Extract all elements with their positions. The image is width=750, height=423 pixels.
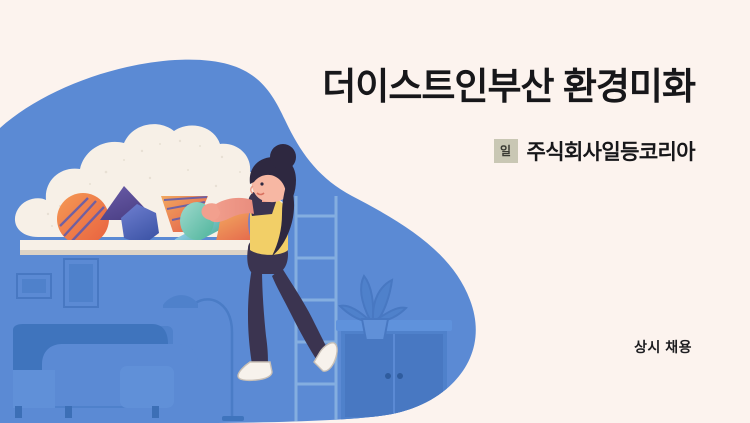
floor-lamp-base (222, 416, 244, 421)
job-posting-poster: 더이스트인부산 환경미화 일 주식회사일등코리아 상시 채용 (0, 0, 750, 423)
page-title: 더이스트인부산 환경미화 (200, 66, 695, 109)
illustration-woman-on-ladder (0, 0, 520, 423)
company-row: 일 주식회사일등코리아 (300, 136, 695, 166)
company-logo-badge: 일 (494, 139, 518, 163)
sofa (13, 324, 198, 418)
shelf-board (20, 240, 278, 255)
picture-frame-large (64, 259, 98, 307)
hiring-type-label: 상시 채용 (634, 337, 692, 357)
woman-eye (260, 182, 263, 185)
company-name: 주식회사일등코리아 (527, 136, 695, 166)
picture-frame-small (17, 274, 51, 298)
woman-hair-bun (270, 144, 296, 170)
